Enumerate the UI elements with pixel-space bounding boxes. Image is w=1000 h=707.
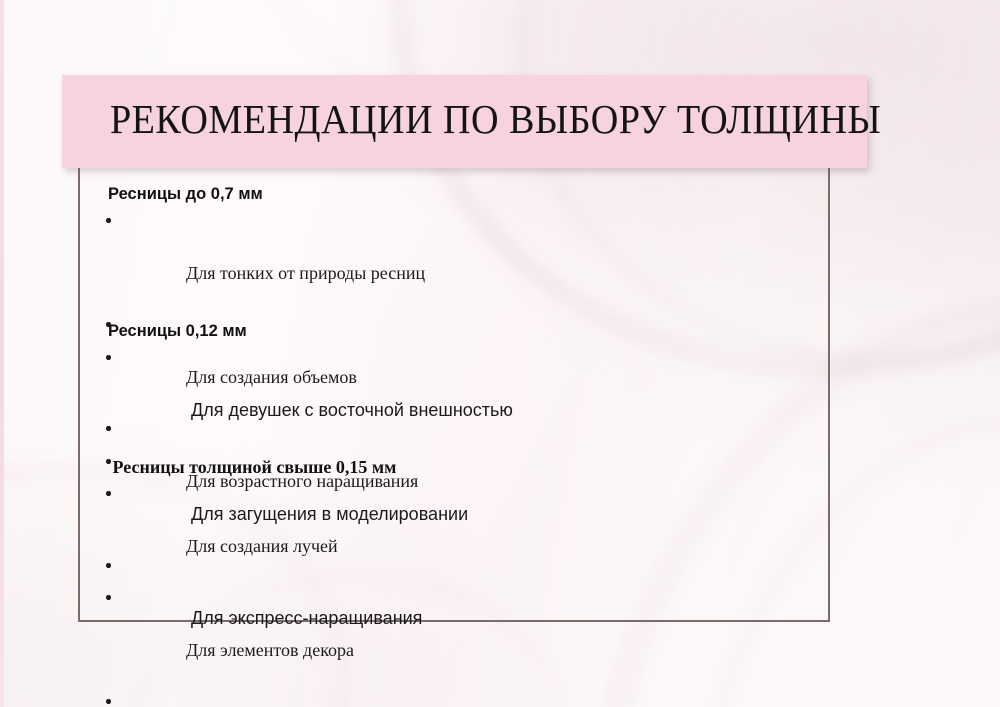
list-item: Для тонких от природы ресниц xyxy=(0,208,740,312)
bullet-dot-icon xyxy=(106,491,111,496)
list-item-label: Для тонких от природы ресниц xyxy=(186,263,425,283)
list-item-label: Для элементов декора xyxy=(186,640,354,660)
bullet-dot-icon xyxy=(106,699,111,704)
block-heading: Ресницы до 0,7 мм xyxy=(0,183,740,205)
block-heading: Ресницы толщиной свыше 0,15 мм xyxy=(0,456,740,478)
block-heading: Ресницы 0,12 мм xyxy=(0,320,740,342)
list-item-label: Для создания лучей xyxy=(186,536,338,556)
list-item: Для особых случаев: фотосессия, свадьба,… xyxy=(0,689,740,707)
slide: РЕКОМЕНДАЦИИ ПО ВЫБОРУ ТОЛЩИНЫ Ресницы д… xyxy=(0,0,1000,707)
thickness-block-0-15: Ресницы толщиной свыше 0,15 мм Для созда… xyxy=(0,456,740,707)
bullet-dot-icon xyxy=(106,218,111,223)
list-item: Для элементов декора xyxy=(0,585,740,689)
list-item-label: Для девушек с восточной внешностью xyxy=(191,400,513,420)
bullet-list: Для создания лучей Для элементов декора … xyxy=(0,481,740,707)
list-item: Для девушек с восточной внешностью xyxy=(0,345,740,449)
content-blocks: Ресницы до 0,7 мм Для тонких от природы … xyxy=(0,0,1000,707)
bullet-dot-icon xyxy=(106,355,111,360)
bullet-dot-icon xyxy=(106,595,111,600)
list-item: Для создания лучей xyxy=(0,481,740,585)
